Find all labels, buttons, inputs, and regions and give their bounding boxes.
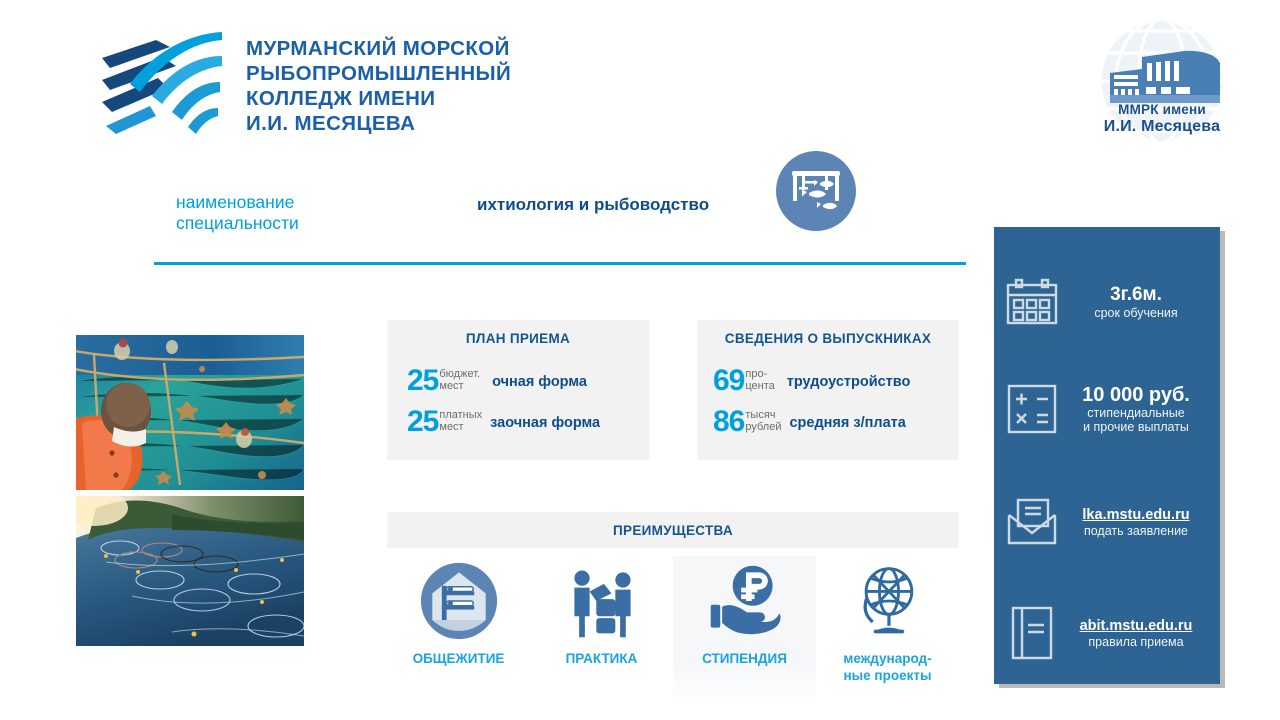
- plan-row-2-desc: заочная форма: [490, 407, 600, 431]
- graduates-row-2-unit: тысяч рублей: [744, 407, 781, 433]
- graduates-row-2-desc: средняя з/плата: [789, 407, 905, 431]
- graduates-row-2-number: 86: [713, 407, 744, 437]
- advantage-label-stipend: СТИПЕНДИЯ: [702, 650, 787, 667]
- slide-root: МУРМАНСКИЙ МОРСКОЙ РЫБОПРОМЫШЛЕННЫЙ КОЛЛ…: [0, 0, 1280, 720]
- advantage-item-dormitory[interactable]: ОБЩЕЖИТИЕ: [387, 556, 530, 706]
- advantage-label-international: международ- ные проекты: [843, 650, 931, 684]
- aquafarm-aerial-photo: [76, 496, 304, 646]
- plan-row-2-number: 25: [407, 407, 438, 437]
- advantages-list: ОБЩЕЖИТИЕ ПРАКТИКА: [387, 556, 959, 706]
- header-divider: [154, 262, 966, 265]
- globe-stand-icon: [848, 556, 928, 646]
- advantages-heading: ПРЕИМУЩЕСТВА: [387, 512, 959, 548]
- wave-stripes-logo: [96, 30, 226, 138]
- fishing-net-photo: [76, 335, 304, 490]
- calculator-icon: [1004, 382, 1060, 436]
- calendar-icon: [1004, 277, 1060, 327]
- sidebar-rules-link[interactable]: abit.mstu.edu.ru: [1080, 618, 1193, 634]
- ruble-in-hand-icon: [705, 556, 785, 646]
- internship-handshake-icon: [562, 556, 642, 646]
- sidebar-duration-value: 3г.6м.: [1062, 284, 1210, 306]
- brand-title-line-4: И.И. МЕСЯЦЕВА: [246, 111, 666, 136]
- brand-title-line-3: КОЛЛЕДЖ ИМЕНИ: [246, 86, 666, 111]
- college-emblem-badge: ММРК имени И.И. Месяцева: [1076, 11, 1248, 159]
- plan-row-1: 25 бюджет. мест очная форма: [407, 366, 587, 396]
- sidebar-application-label: подать заявление: [1062, 524, 1210, 539]
- plan-row-1-desc: очная форма: [492, 366, 587, 390]
- advantage-item-internship[interactable]: ПРАКТИКА: [530, 556, 673, 706]
- sidebar-panel: 3г.6м. срок обучения 10 000 руб.: [994, 227, 1220, 684]
- sidebar-duration-label: срок обучения: [1062, 306, 1210, 321]
- envelope-document-icon: [1004, 497, 1060, 547]
- advantage-item-international[interactable]: международ- ные проекты: [816, 556, 959, 706]
- graduates-row-1-number: 69: [713, 366, 744, 396]
- graduates-row-1: 69 про- цента трудоустройство: [713, 366, 910, 396]
- sidebar-row-rules[interactable]: abit.mstu.edu.ru правила приема: [1004, 605, 1210, 661]
- sidebar-payments-label: стипендиальные и прочие выплаты: [1062, 406, 1210, 435]
- specialty-label-line-2: специальности: [176, 213, 396, 234]
- plan-row-2: 25 платных мест заочная форма: [407, 407, 600, 437]
- graduates-info-box: СВЕДЕНИЯ О ВЫПУСКНИКАХ 69 про- цента тру…: [697, 320, 959, 460]
- sidebar-rules-label: правила приема: [1062, 635, 1210, 650]
- sidebar-application-link[interactable]: lka.mstu.edu.ru: [1082, 507, 1189, 523]
- page-title: МУРМАНСКИЙ МОРСКОЙ РЫБОПРОМЫШЛЕННЫЙ КОЛЛ…: [246, 36, 666, 136]
- graduates-row-1-desc: трудоустройство: [787, 366, 911, 390]
- sidebar-payments-value: 10 000 руб.: [1062, 384, 1210, 406]
- advantage-item-stipend[interactable]: СТИПЕНДИЯ: [673, 556, 816, 706]
- badge-line-2: И.И. Месяцева: [1076, 118, 1248, 136]
- graduates-row-1-unit: про- цента: [744, 366, 774, 392]
- sidebar-row-application[interactable]: lka.mstu.edu.ru подать заявление: [1004, 497, 1210, 547]
- graduates-heading: СВЕДЕНИЯ О ВЫПУСКНИКАХ: [697, 320, 959, 356]
- globe-building-emblem-icon: [1076, 11, 1248, 159]
- graduates-row-2: 86 тысяч рублей средняя з/плата: [713, 407, 906, 437]
- badge-line-1: ММРК имени: [1076, 102, 1248, 117]
- sidebar-row-payments: 10 000 руб. стипендиальные и прочие выпл…: [1004, 382, 1210, 436]
- plan-row-1-number: 25: [407, 366, 438, 396]
- dormitory-bunkbed-icon: [419, 556, 499, 646]
- brand-title-line-2: РЫБОПРОМЫШЛЕННЫЙ: [246, 61, 666, 86]
- advantage-label-dormitory: ОБЩЕЖИТИЕ: [413, 650, 505, 667]
- fish-farm-cage-icon: [776, 151, 856, 231]
- specialty-label-line-1: наименование: [176, 192, 396, 213]
- advantage-label-internship: ПРАКТИКА: [566, 650, 638, 667]
- book-rules-icon: [1004, 605, 1060, 661]
- admission-plan-heading: ПЛАН ПРИЕМА: [387, 320, 649, 356]
- specialty-value: ихтиология и рыбоводство: [477, 195, 709, 215]
- plan-row-1-unit: бюджет. мест: [438, 366, 480, 392]
- sidebar-row-duration: 3г.6м. срок обучения: [1004, 277, 1210, 327]
- specialty-label: наименование специальности: [176, 192, 396, 234]
- admission-plan-box: ПЛАН ПРИЕМА 25 бюджет. мест очная форма …: [387, 320, 649, 460]
- brand-title-line-1: МУРМАНСКИЙ МОРСКОЙ: [246, 36, 666, 61]
- plan-row-2-unit: платных мест: [438, 407, 482, 433]
